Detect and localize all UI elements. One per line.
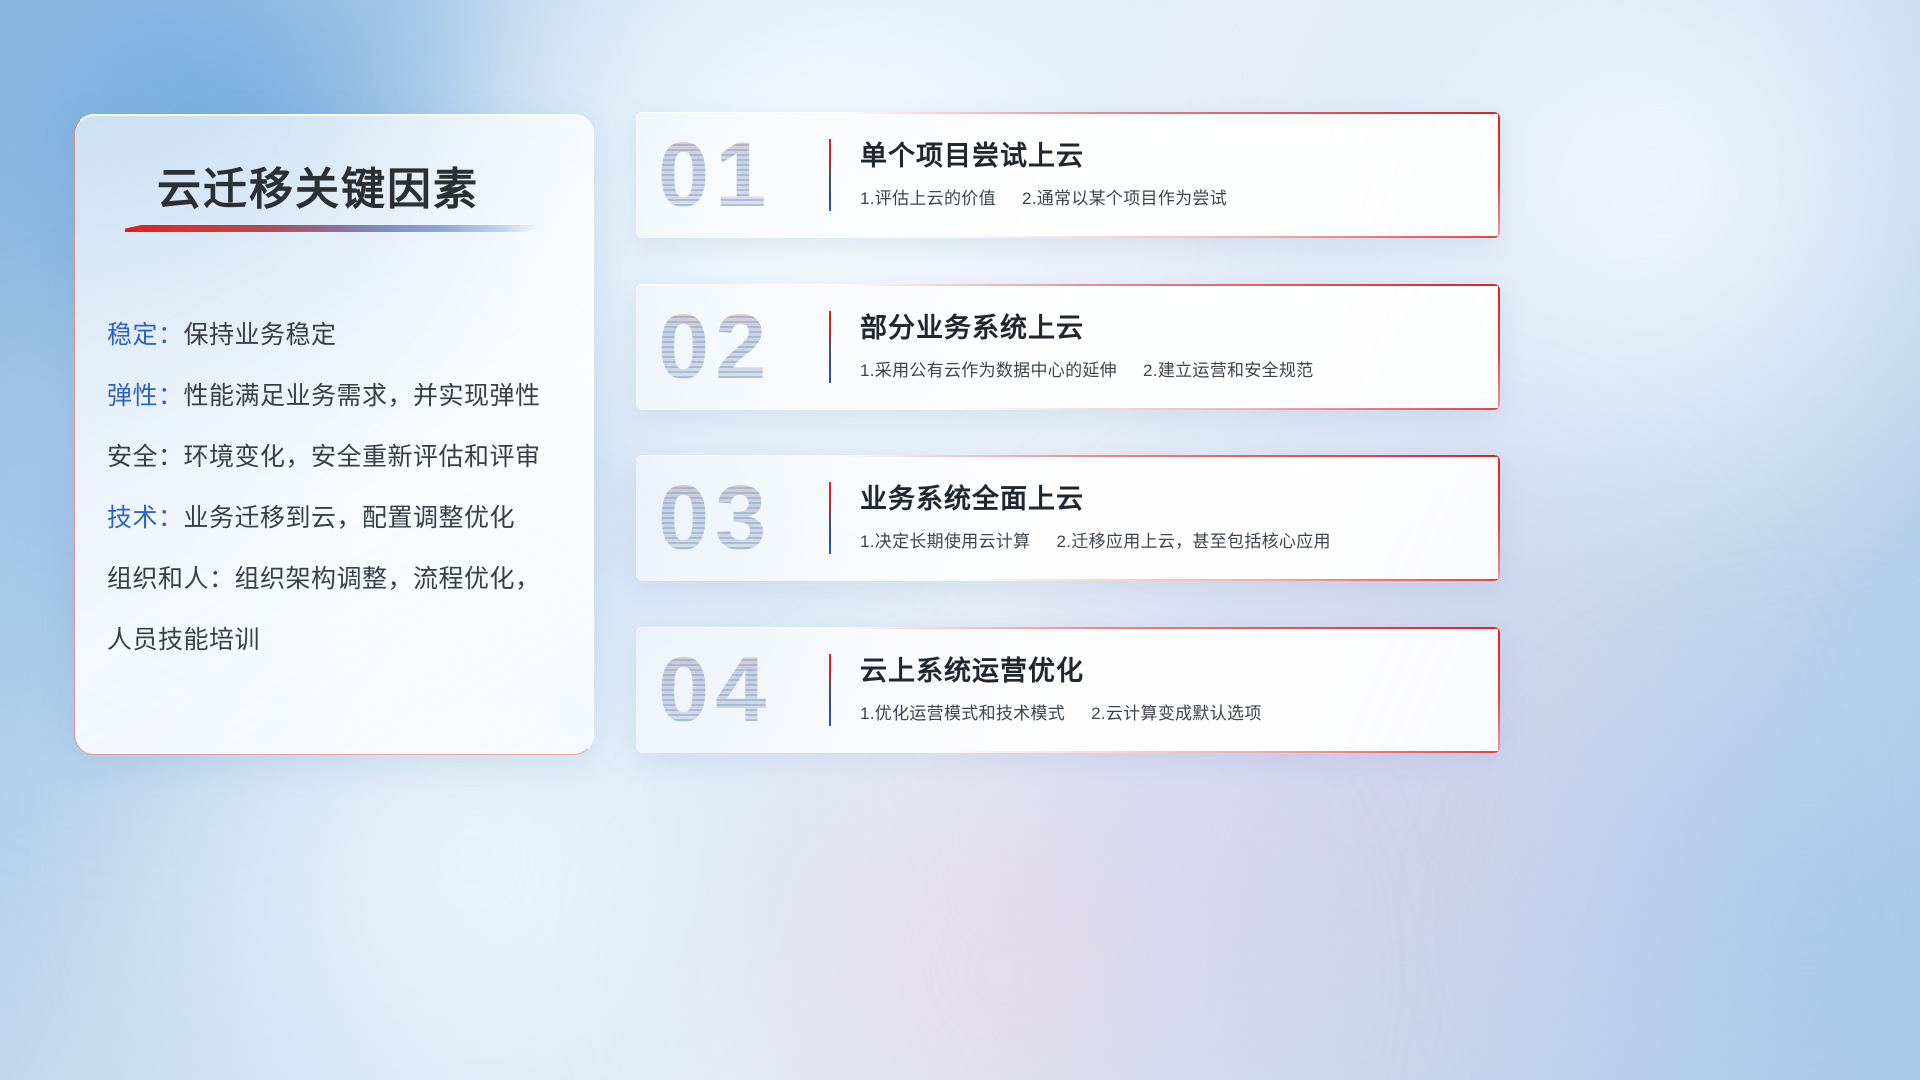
card-description-04: 1.优化运营模式和技术模式 2.云计算变成默认选项 [860, 699, 1262, 724]
card-divider-bar [829, 139, 831, 211]
key-factor-label: 技术： [107, 504, 184, 532]
card-desc-item-2: 2.通常以某个项目作为尝试 [1022, 189, 1227, 208]
card-divider-bar [829, 654, 831, 726]
key-factor-item: 人员技能培训 [107, 610, 569, 671]
card-description-02: 1.采用公有云作为数据中心的延伸 2.建立运营和安全规范 [860, 356, 1314, 381]
key-factor-text: 环境变化，安全重新评估和评审 [184, 443, 541, 471]
key-factor-item: 稳定：保持业务稳定 [107, 305, 569, 366]
key-factor-label: 安全： [107, 443, 184, 471]
title-underline-accent [125, 225, 535, 232]
key-factor-text: 性能满足业务需求，并实现弹性 [184, 382, 541, 410]
key-factor-item: 组织和人：组织架构调整，流程优化， [107, 549, 569, 610]
card-heading-02: 部分业务系统上云 [860, 306, 1084, 345]
key-factor-label: 稳定： [107, 321, 184, 349]
key-factor-text: 人员技能培训 [107, 626, 260, 654]
key-factors-panel: 云迁移关键因素 稳定：保持业务稳定弹性：性能满足业务需求，并实现弹性安全：环境变… [74, 114, 594, 755]
card-desc-item-1: 1.优化运营模式和技术模式 [860, 704, 1065, 723]
key-factor-text: 业务迁移到云，配置调整优化 [184, 504, 516, 532]
key-factor-text: 保持业务稳定 [184, 321, 337, 349]
key-factor-label: 组织和人： [107, 565, 235, 593]
card-bottom-accent [947, 751, 1500, 753]
card-desc-item-2: 2.迁移应用上云，甚至包括核心应用 [1057, 532, 1331, 551]
card-desc-item-1: 1.评估上云的价值 [860, 189, 996, 208]
card-divider-bar [829, 311, 831, 383]
key-factor-item: 弹性：性能满足业务需求，并实现弹性 [107, 366, 569, 427]
card-heading-03: 业务系统全面上云 [860, 477, 1084, 516]
stage-number-01: 01 [658, 129, 772, 221]
stage-card-04[interactable]: 04 云上系统运营优化 1.优化运营模式和技术模式 2.云计算变成默认选项 [636, 627, 1500, 753]
card-bottom-accent [947, 236, 1500, 238]
stage-number-04: 04 [658, 644, 772, 736]
card-divider-bar [829, 482, 831, 554]
stage-number-03: 03 [658, 472, 772, 564]
panel-title: 云迁移关键因素 [157, 153, 479, 217]
stage-card-03[interactable]: 03 业务系统全面上云 1.决定长期使用云计算 2.迁移应用上云，甚至包括核心应… [636, 455, 1500, 581]
card-heading-04: 云上系统运营优化 [860, 649, 1084, 688]
key-factor-label: 弹性： [107, 382, 184, 410]
card-desc-item-2: 2.云计算变成默认选项 [1091, 704, 1261, 723]
key-factor-item: 技术：业务迁移到云，配置调整优化 [107, 488, 569, 549]
key-factor-text: 组织架构调整，流程优化， [235, 565, 541, 593]
stage-card-01[interactable]: 01 单个项目尝试上云 1.评估上云的价值 2.通常以某个项目作为尝试 [636, 112, 1500, 238]
card-desc-item-1: 1.决定长期使用云计算 [860, 532, 1030, 551]
card-description-01: 1.评估上云的价值 2.通常以某个项目作为尝试 [860, 184, 1227, 209]
card-bottom-accent [947, 408, 1500, 410]
card-description-03: 1.决定长期使用云计算 2.迁移应用上云，甚至包括核心应用 [860, 527, 1331, 552]
slide-stage: 云迁移关键因素 稳定：保持业务稳定弹性：性能满足业务需求，并实现弹性安全：环境变… [0, 0, 1920, 1080]
card-desc-item-2: 2.建立运营和安全规范 [1143, 361, 1313, 380]
stage-number-02: 02 [658, 301, 772, 393]
card-heading-01: 单个项目尝试上云 [860, 134, 1084, 173]
key-factor-item: 安全：环境变化，安全重新评估和评审 [107, 427, 569, 488]
card-desc-item-1: 1.采用公有云作为数据中心的延伸 [860, 361, 1117, 380]
stage-card-02[interactable]: 02 部分业务系统上云 1.采用公有云作为数据中心的延伸 2.建立运营和安全规范 [636, 284, 1500, 410]
card-bottom-accent [947, 579, 1500, 581]
key-factors-list: 稳定：保持业务稳定弹性：性能满足业务需求，并实现弹性安全：环境变化，安全重新评估… [107, 305, 569, 671]
